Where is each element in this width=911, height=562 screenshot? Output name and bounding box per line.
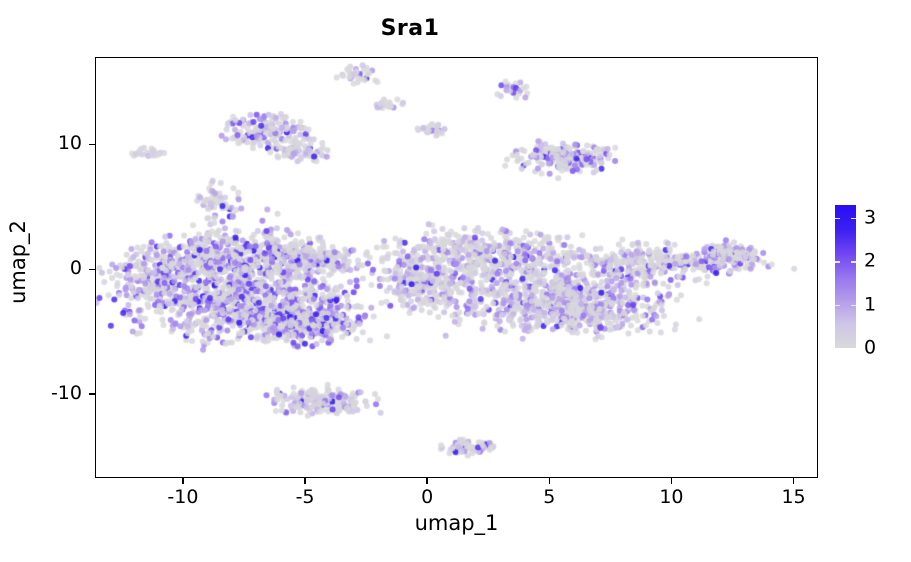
y-tick-label: 0 (22, 257, 82, 279)
colorbar-tick-label: 0 (864, 339, 876, 358)
colorbar-tick-mark (851, 218, 856, 219)
x-axis-label: umap_1 (0, 511, 911, 535)
y-tick-label: -10 (22, 382, 82, 404)
colorbar-tick-mark (835, 305, 840, 306)
x-tick-mark (182, 478, 184, 484)
scatter-points-layer (96, 58, 819, 479)
y-tick-mark (89, 269, 95, 271)
y-tick-mark (89, 144, 95, 146)
x-tick-mark (304, 478, 306, 484)
page-title: Sra1 (0, 16, 820, 41)
x-tick-label: -10 (148, 486, 218, 508)
y-tick-label: 10 (22, 132, 82, 154)
colorbar-tick-label: 3 (864, 209, 876, 228)
colorbar-tick-mark (851, 305, 856, 306)
x-tick-mark (426, 478, 428, 484)
colorbar-tick-label: 2 (864, 252, 876, 271)
x-tick-label: 10 (636, 486, 706, 508)
x-tick-label: 5 (514, 486, 584, 508)
colorbar-tick-mark (835, 261, 840, 262)
colorbar-tick-label: 1 (864, 295, 876, 314)
plot-area (95, 57, 818, 478)
x-tick-mark (549, 478, 551, 484)
x-tick-mark (671, 478, 673, 484)
x-tick-label: 15 (759, 486, 829, 508)
x-tick-mark (793, 478, 795, 484)
colorbar-tick-mark (851, 261, 856, 262)
colorbar-tick-mark (835, 218, 840, 219)
y-axis-label: umap_2 (6, 152, 30, 372)
umap-feature-plot: Sra1 -10-5051015-10010 umap_1 umap_2 012… (0, 0, 911, 562)
colorbar-gradient (835, 205, 856, 348)
y-tick-mark (89, 393, 95, 395)
x-tick-label: 0 (392, 486, 462, 508)
x-tick-label: -5 (270, 486, 340, 508)
